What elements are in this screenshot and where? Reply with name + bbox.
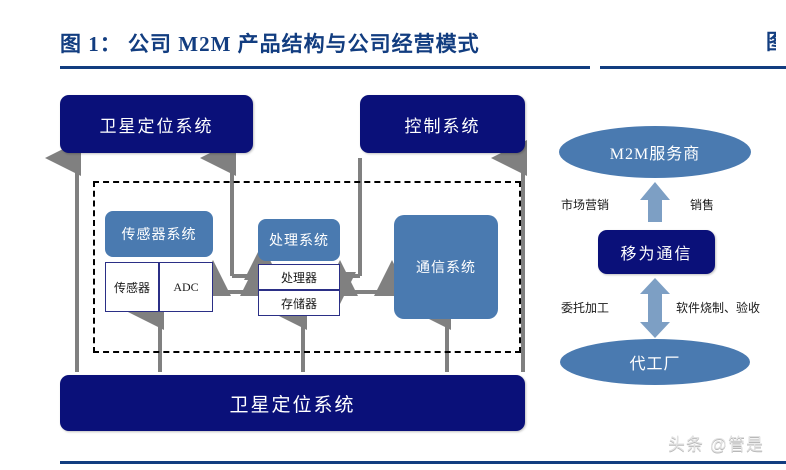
- processing-system-header: 处理系统: [258, 219, 340, 261]
- business-node-m2m-provider: M2M服务商: [559, 126, 751, 178]
- footer-rule: [60, 461, 786, 464]
- header-edge-mark: 图: [766, 26, 776, 56]
- business-node-queclink: 移为通信: [598, 230, 715, 274]
- arrow-queclink-oem-bidirectional: [640, 278, 670, 338]
- arrow-queclink-to-m2m-provider: [640, 182, 670, 222]
- top-left-satellite-box: 卫星定位系统: [60, 95, 253, 153]
- page-title: 图 1： 公司 M2M 产品结构与公司经营模式: [60, 28, 480, 58]
- sensor-system-header: 传感器系统: [105, 211, 213, 257]
- bottom-satellite-box: 卫星定位系统: [60, 375, 525, 431]
- sensor-cell-adc: ADC: [159, 262, 213, 312]
- label-software-burning-acceptance: 软件烧制、验收: [676, 299, 760, 316]
- figure-header: 图 1： 公司 M2M 产品结构与公司经营模式 图: [0, 0, 786, 78]
- sensor-cell-sensor: 传感器: [105, 262, 159, 312]
- label-marketing: 市场营销: [561, 196, 609, 213]
- processing-cell-processor: 处理器: [258, 264, 340, 290]
- communication-system-box: 通信系统: [394, 215, 498, 319]
- top-right-control-box: 控制系统: [360, 95, 525, 153]
- watermark: 头条 @管是: [668, 430, 764, 455]
- processing-cell-memory: 存储器: [258, 290, 340, 316]
- label-sales: 销售: [690, 196, 714, 213]
- label-oem-processing: 委托加工: [561, 299, 609, 316]
- title-underline-left: [60, 66, 590, 69]
- title-underline-right: [600, 66, 786, 69]
- business-node-oem-factory: 代工厂: [560, 339, 750, 385]
